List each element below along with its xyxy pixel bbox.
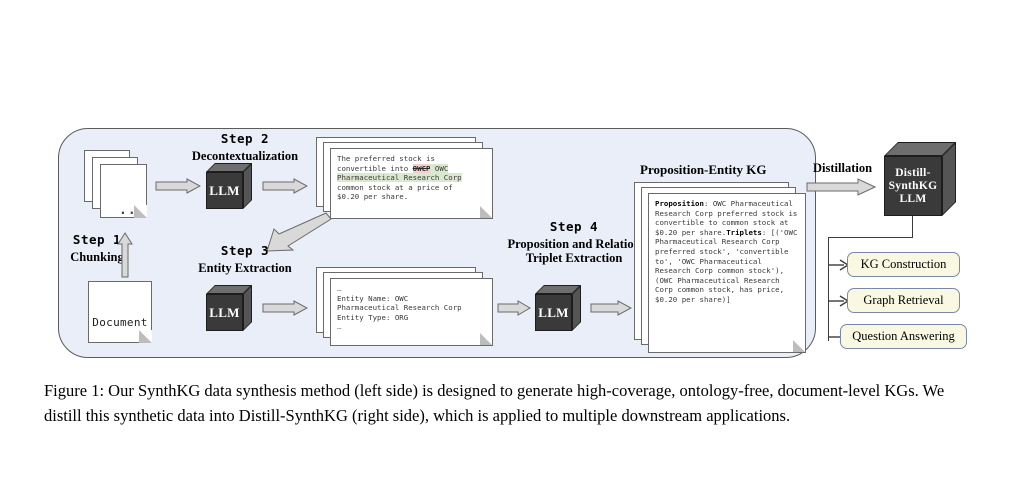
cube-front-face-label: LLM (535, 294, 572, 331)
connector-horizontal-top (828, 237, 913, 238)
distill-cube-label: Distill- SynthKG LLM (884, 156, 942, 216)
decontextualized-card-stack: The preferred stock is convertible into … (316, 137, 500, 219)
entity-card-text: … Entity Name: OWC Pharmaceutical Resear… (331, 279, 492, 336)
decontext-line3: Pharmaceutical Research Corp (337, 173, 462, 182)
chunk-ellipsis: ... (119, 203, 145, 218)
decontext-line4: common stock at a price of (337, 183, 453, 192)
distill-synthkg-llm-cube: Distill- SynthKG LLM (884, 142, 956, 216)
kg-card-text: Proposition: OWC Pharmaceutical Research… (649, 194, 805, 309)
decontext-line2-prefix: convertible into (337, 164, 413, 173)
cube-front-face-label: LLM (206, 172, 243, 209)
figure-container: Step 1 Chunking Document ... Step 2 Deco… (0, 0, 1024, 482)
distill-cube-line2: SynthKG (889, 180, 938, 193)
kg-card-stack: Proposition: OWC Pharmaceutical Research… (634, 182, 814, 352)
arrow-distillation (806, 178, 876, 192)
kg-card-title: Proposition-Entity KG (640, 162, 767, 178)
arrow-llm4-to-kg-card (590, 300, 632, 314)
entity-card-stack: … Entity Name: OWC Pharmaceutical Resear… (316, 267, 500, 349)
arrow-llm3-to-entity-card (262, 300, 308, 314)
arrow-chunks-to-llm2 (155, 178, 201, 192)
arrow-llm2-to-card (262, 178, 308, 192)
entity-line1: Entity Name: OWC (337, 294, 408, 303)
step3-description: Entity Extraction (185, 261, 305, 275)
document-sheet: Document (88, 281, 152, 343)
llm-cube-step2: LLM (206, 163, 252, 209)
llm-cube-step3: LLM (206, 285, 252, 331)
step3-number: Step 3 (185, 243, 305, 258)
decontext-sheet-front: The preferred stock is convertible into … (330, 148, 493, 219)
document-chunks-stack: ... (84, 150, 148, 222)
step4-number: Step 4 (510, 219, 638, 234)
decontext-line2-suffix: OWC (430, 164, 448, 173)
entity-sheet-front: … Entity Name: OWC Pharmaceutical Resear… (330, 278, 493, 346)
cube-front-face-label: LLM (206, 294, 243, 331)
kg-proposition-label: Proposition (655, 199, 704, 208)
arrow-cards-to-llm4 (497, 300, 531, 314)
application-box-graph-retrieval[interactable]: Graph Retrieval (847, 288, 960, 313)
distill-cube-line1: Distill- (895, 167, 931, 180)
kg-sheet-front: Proposition: OWC Pharmaceutical Research… (648, 193, 806, 353)
application-box-question-answering[interactable]: Question Answering (840, 324, 967, 349)
distillation-label: Distillation (813, 161, 872, 176)
figure-caption: Figure 1: Our SynthKG data synthesis met… (44, 378, 980, 428)
cube-side-face (243, 285, 252, 331)
step2-description: Decontextualization (180, 149, 310, 163)
cube-side-face (942, 142, 956, 216)
decontext-line5: $0.20 per share. (337, 192, 408, 201)
kg-triplets-label: Triplets (726, 228, 762, 237)
chunking-up-arrow (117, 232, 133, 278)
step2-number: Step 2 (180, 131, 310, 146)
step4-description: Proposition and Relation Triplet Extract… (494, 237, 654, 265)
distill-cube-line3: LLM (899, 193, 926, 206)
kg-triplets-text: : [('OWC Pharmaceutical Research Corp pr… (655, 228, 802, 304)
entity-ellipsis-top: … (337, 284, 341, 293)
chunk-sheet-front: ... (100, 164, 147, 218)
document-label: Document (89, 316, 151, 329)
connector-vertical-bus (828, 237, 829, 341)
entity-line3: Entity Type: ORG (337, 313, 408, 322)
cube-side-face (572, 285, 581, 331)
cube-side-face (243, 163, 252, 209)
decontext-strikethrough-term: OWCP (413, 164, 431, 173)
decontext-line1: The preferred stock is (337, 154, 435, 163)
entity-ellipsis-bottom: … (337, 322, 341, 331)
application-box-kg-construction[interactable]: KG Construction (847, 252, 960, 277)
decontext-card-text: The preferred stock is convertible into … (331, 149, 492, 206)
connector-vertical-from-cube (912, 216, 913, 238)
entity-line2: Pharmaceutical Research Corp (337, 303, 462, 312)
llm-cube-step4: LLM (535, 285, 581, 331)
